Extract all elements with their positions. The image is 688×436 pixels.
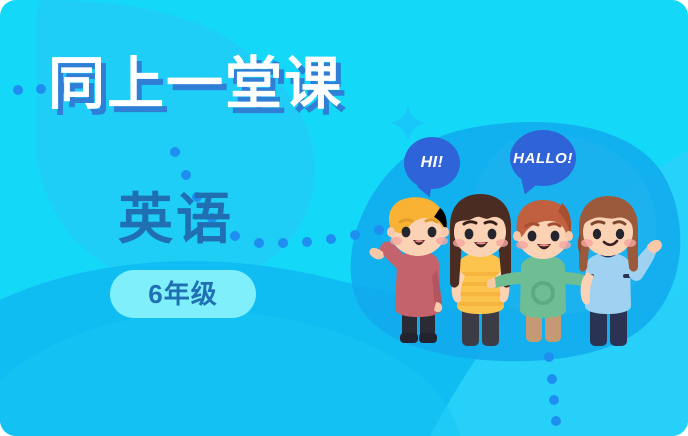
grade-badge-label: 6年级 [148,281,217,307]
speech-bubble-hallo-text: HALLO! [513,151,573,166]
page-title: 同上一堂课 [48,56,343,113]
grade-badge: 6年级 [110,270,256,318]
speech-bubble-hi-text: HI! [421,155,444,171]
sparkle-icon [389,104,427,142]
speech-bubble-hallo: HALLO! [510,130,576,186]
course-banner-card: 同上一堂课 英语 6年级 HI! HALLO! [0,0,688,436]
subject-title: 英语 [118,192,234,247]
children-illustration [366,190,686,350]
child-blond-waving [369,197,449,343]
speech-bubble-hi: HI! [404,137,460,189]
child-brown-hair-girl [450,194,511,346]
child-brown-hair-blue-shirt [578,196,662,346]
